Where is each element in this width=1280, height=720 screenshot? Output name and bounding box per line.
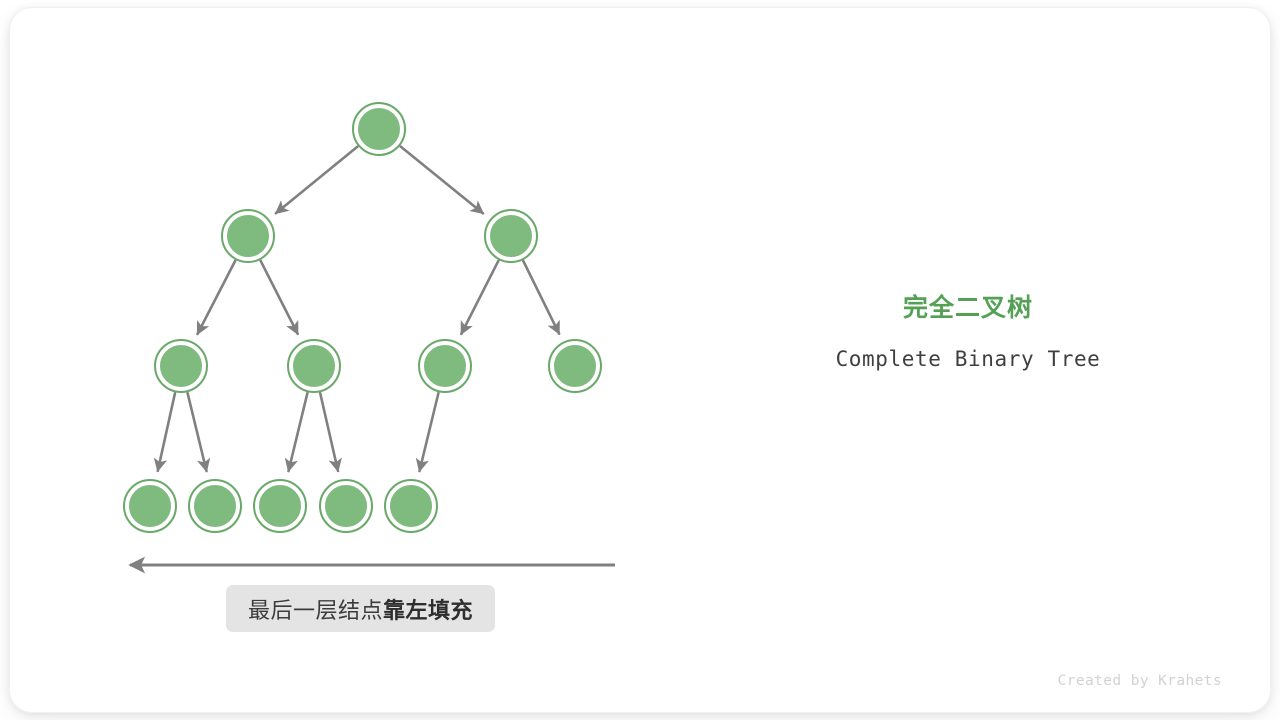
node-circle <box>159 344 203 388</box>
tree-edge <box>419 393 438 471</box>
tree-edge <box>276 147 357 214</box>
legend-block: 完全二叉树 Complete Binary Tree <box>808 292 1128 371</box>
tree-node <box>124 480 176 532</box>
tree-edge <box>461 261 498 334</box>
tree-edge <box>523 261 559 334</box>
tree-edge <box>401 147 483 214</box>
tree-edge <box>320 393 338 471</box>
tree-node <box>222 210 274 262</box>
node-circle <box>292 344 336 388</box>
node-circle <box>423 344 467 388</box>
tree-edge <box>188 393 207 471</box>
node-circle <box>193 484 237 528</box>
tree-nodes <box>124 103 601 532</box>
title-chinese: 完全二叉树 <box>808 292 1128 325</box>
caption-plain-text: 最后一层结点 <box>248 593 383 625</box>
tree-node <box>288 340 340 392</box>
tree-node <box>155 340 207 392</box>
node-circle <box>128 484 172 528</box>
tree-node <box>189 480 241 532</box>
node-circle <box>258 484 302 528</box>
tree-node <box>385 480 437 532</box>
tree-node <box>419 340 471 392</box>
tree-node <box>485 210 537 262</box>
tree-node <box>549 340 601 392</box>
slide-canvas: 完全二叉树 Complete Binary Tree 最后一层结点靠左填充 Cr… <box>0 0 1280 720</box>
node-circle <box>357 107 401 151</box>
node-circle <box>389 484 433 528</box>
caption-badge: 最后一层结点靠左填充 <box>226 585 495 632</box>
tree-edge <box>158 393 175 471</box>
node-circle <box>489 214 533 258</box>
watermark-credit: Created by Krahets <box>0 673 1222 689</box>
node-circle <box>226 214 270 258</box>
title-english: Complete Binary Tree <box>808 325 1128 371</box>
tree-edges <box>158 147 559 471</box>
node-circle <box>553 344 597 388</box>
tree-edge <box>261 261 298 334</box>
tree-edge <box>288 393 307 471</box>
tree-node <box>320 480 372 532</box>
tree-node <box>353 103 405 155</box>
tree-edge <box>197 261 235 334</box>
caption-bold-text: 靠左填充 <box>383 593 473 625</box>
tree-node <box>254 480 306 532</box>
node-circle <box>324 484 368 528</box>
